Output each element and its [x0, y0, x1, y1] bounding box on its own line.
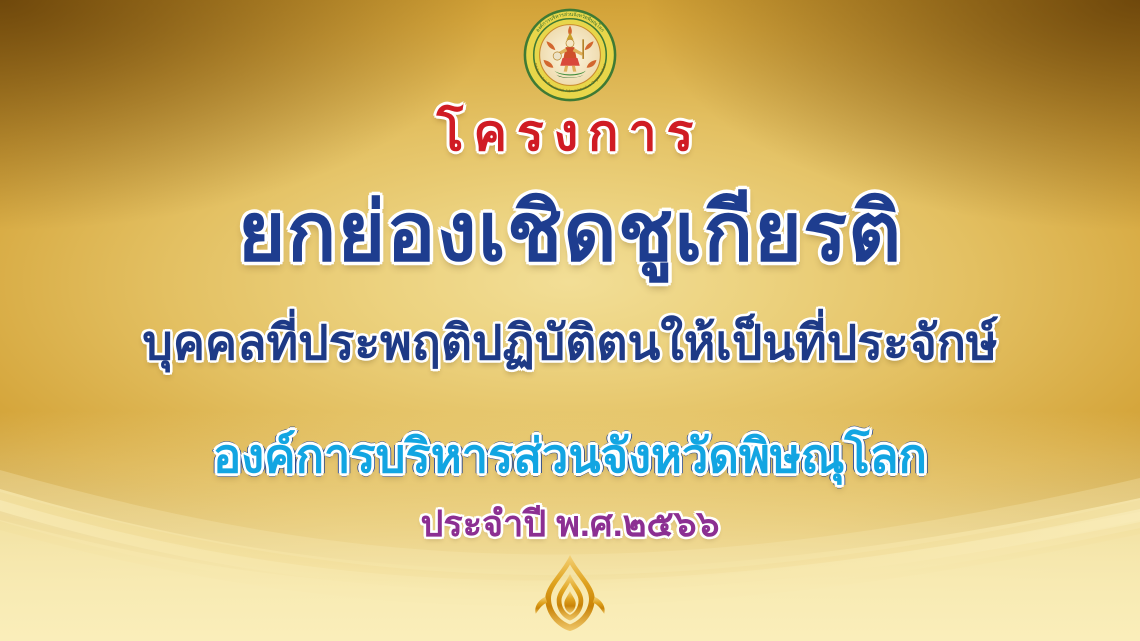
- banner-canvas: องค์การบริหารส่วนจังหวัดพิษณุโลก Phitsan…: [0, 0, 1140, 641]
- subtitle: บุคคลที่ประพฤติปฏิบัติตนให้เป็นที่ประจัก…: [0, 320, 1140, 368]
- thai-kanok-ornament-icon: [532, 553, 608, 633]
- phitsanulok-pao-seal-icon: องค์การบริหารส่วนจังหวัดพิษณุโลก Phitsan…: [521, 6, 619, 104]
- project-label: โครงการ: [0, 108, 1140, 158]
- year-label: ประจำปี พ.ศ.๒๕๖๖: [0, 506, 1140, 542]
- page-title: ยกย่องเชิดชูเกียรติ: [0, 192, 1140, 274]
- banner-content: องค์การบริหารส่วนจังหวัดพิษณุโลก Phitsan…: [0, 0, 1140, 641]
- organization-name: องค์การบริหารส่วนจังหวัดพิษณุโลก: [0, 432, 1140, 479]
